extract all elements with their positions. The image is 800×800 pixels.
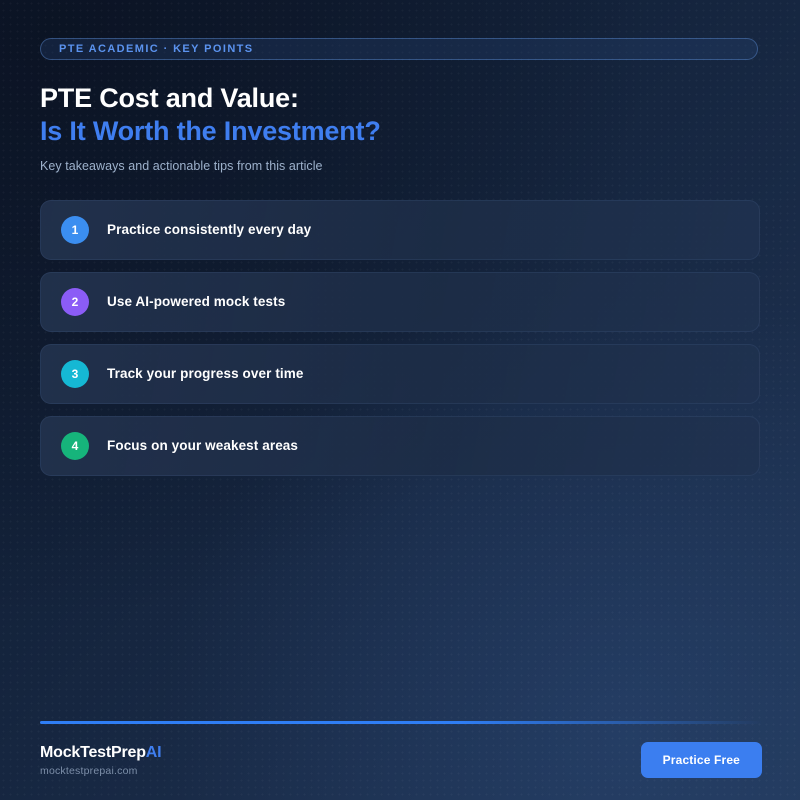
footer-divider — [40, 721, 762, 724]
brand-name-main: MockTestPrep — [40, 744, 146, 761]
content-area: PTE ACADEMIC · KEY POINTS PTE Cost and V… — [0, 0, 800, 476]
footer-row: MockTestPrepAI mocktestprepai.com Practi… — [40, 742, 762, 778]
title-line-2: Is It Worth the Investment? — [40, 115, 760, 148]
practice-free-button[interactable]: Practice Free — [641, 742, 762, 778]
point-text: Track your progress over time — [107, 366, 303, 381]
page-title: PTE Cost and Value: Is It Worth the Inve… — [40, 82, 760, 148]
point-text: Focus on your weakest areas — [107, 438, 298, 453]
brand-block: MockTestPrepAI mocktestprepai.com — [40, 744, 161, 777]
subtitle: Key takeaways and actionable tips from t… — [40, 159, 760, 173]
list-item[interactable]: 1 Practice consistently every day — [40, 200, 760, 260]
eyebrow-pill: PTE ACADEMIC · KEY POINTS — [40, 38, 758, 60]
footer: MockTestPrepAI mocktestprepai.com Practi… — [40, 721, 760, 778]
poster-canvas: PTE ACADEMIC · KEY POINTS PTE Cost and V… — [0, 0, 800, 800]
list-item[interactable]: 3 Track your progress over time — [40, 344, 760, 404]
point-number-badge: 4 — [61, 432, 89, 460]
brand-logo: MockTestPrepAI — [40, 744, 161, 762]
list-item[interactable]: 2 Use AI-powered mock tests — [40, 272, 760, 332]
title-line-1: PTE Cost and Value: — [40, 82, 760, 115]
list-item[interactable]: 4 Focus on your weakest areas — [40, 416, 760, 476]
point-number-badge: 1 — [61, 216, 89, 244]
brand-name-accent: AI — [146, 744, 162, 761]
key-points-list: 1 Practice consistently every day 2 Use … — [40, 200, 760, 476]
eyebrow-label: PTE ACADEMIC · KEY POINTS — [59, 43, 254, 55]
point-number-badge: 3 — [61, 360, 89, 388]
point-text: Practice consistently every day — [107, 222, 311, 237]
brand-url: mocktestprepai.com — [40, 765, 161, 777]
point-number-badge: 2 — [61, 288, 89, 316]
point-text: Use AI-powered mock tests — [107, 294, 285, 309]
